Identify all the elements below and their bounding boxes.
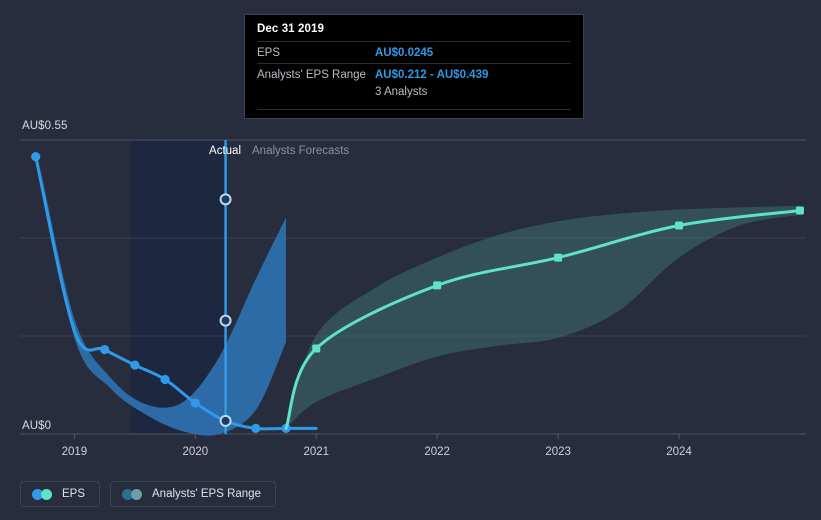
hover-marker[interactable] xyxy=(221,416,231,426)
actual-data-point[interactable] xyxy=(31,152,40,161)
actual-region-label: Actual xyxy=(209,145,241,157)
x-axis-tick-2023: 2023 xyxy=(545,446,571,458)
forecast-data-point[interactable] xyxy=(433,281,441,289)
forecast-data-point[interactable] xyxy=(312,344,320,352)
tooltip-key: EPS xyxy=(257,46,375,60)
y-axis-label-max: AU$0.55 xyxy=(22,120,67,132)
actual-data-point[interactable] xyxy=(251,424,260,433)
hover-marker[interactable] xyxy=(221,194,231,204)
eps-chart: AU$0.55 AU$0 201920202021202220232024 Ac… xyxy=(0,0,821,520)
forecast-data-point[interactable] xyxy=(796,207,804,215)
legend-item-eps[interactable]: EPS xyxy=(20,481,100,507)
x-axis-tick-2019: 2019 xyxy=(62,446,88,458)
x-axis-tick-2020: 2020 xyxy=(183,446,209,458)
tooltip-row-eps: EPS AU$0.0245 xyxy=(257,41,571,63)
y-axis-label-min: AU$0 xyxy=(22,420,51,432)
tooltip-title: Dec 31 2019 xyxy=(257,23,571,41)
actual-data-point[interactable] xyxy=(161,375,170,384)
tooltip-row-range: Analysts' EPS Range AU$0.212 - AU$0.439 … xyxy=(257,63,571,102)
tooltip-analyst-count: 3 Analysts xyxy=(375,82,488,99)
legend-label: EPS xyxy=(62,488,85,500)
legend-swatch xyxy=(32,489,54,500)
forecast-data-point[interactable] xyxy=(675,222,683,230)
actual-data-point[interactable] xyxy=(191,398,200,407)
hover-marker[interactable] xyxy=(221,316,231,326)
tooltip-footer-divider xyxy=(257,109,571,110)
x-axis-tick-2022: 2022 xyxy=(424,446,450,458)
forecast-data-point[interactable] xyxy=(554,254,562,262)
x-axis-tick-2024: 2024 xyxy=(666,446,692,458)
tooltip-value: AU$0.212 - AU$0.439 xyxy=(375,69,488,81)
chart-legend: EPSAnalysts' EPS Range xyxy=(20,481,276,507)
tooltip-key: Analysts' EPS Range xyxy=(257,68,375,82)
legend-label: Analysts' EPS Range xyxy=(152,488,261,500)
legend-item-analysts-range[interactable]: Analysts' EPS Range xyxy=(110,481,276,507)
forecast-region-label: Analysts Forecasts xyxy=(252,145,349,157)
actual-data-point[interactable] xyxy=(130,360,139,369)
tooltip-value: AU$0.0245 xyxy=(375,46,433,60)
chart-tooltip: Dec 31 2019 EPS AU$0.0245 Analysts' EPS … xyxy=(244,14,584,119)
legend-swatch xyxy=(122,489,144,500)
actual-data-point[interactable] xyxy=(100,345,109,354)
x-axis-tick-2021: 2021 xyxy=(303,446,329,458)
